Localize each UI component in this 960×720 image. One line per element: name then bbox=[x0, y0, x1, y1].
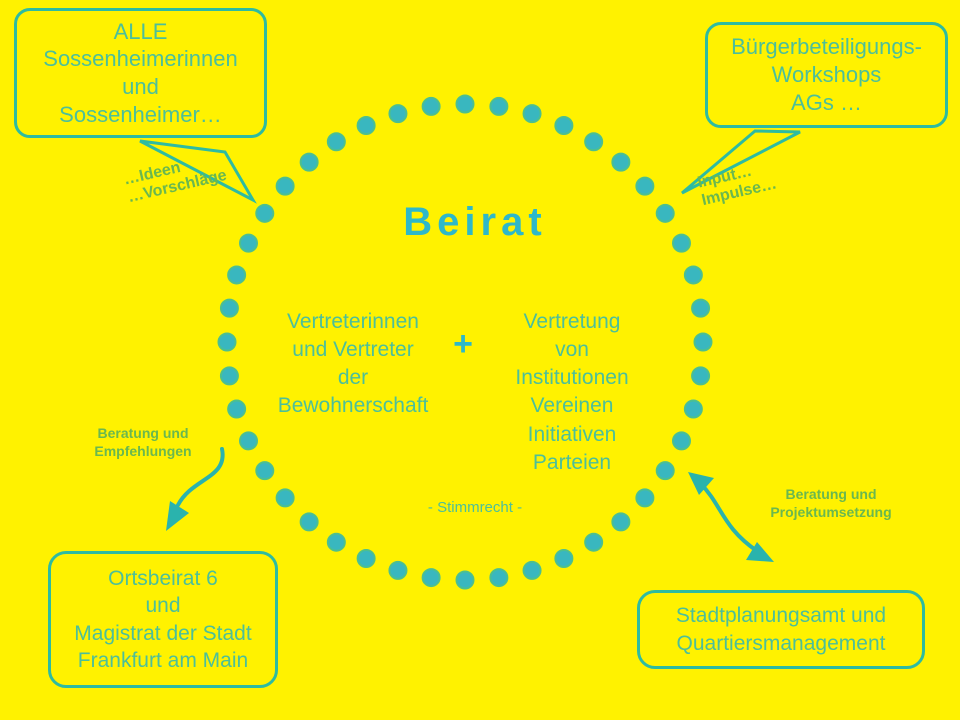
ring-dot bbox=[612, 154, 629, 171]
ring-dot bbox=[490, 569, 507, 586]
arrow-head-to-ring bbox=[688, 472, 714, 495]
ring-dot bbox=[228, 401, 245, 418]
ring-dot bbox=[657, 462, 674, 479]
ring-dot bbox=[221, 300, 238, 317]
ring-dot bbox=[636, 489, 653, 506]
ring-dot bbox=[490, 98, 507, 115]
speech-bubble-citizens-text: ALLE Sossenheimerinnen und Sossenheimer… bbox=[43, 18, 237, 129]
arrow-label-beratung-empfehlungen: Beratung und Empfehlungen bbox=[73, 424, 213, 460]
actor-box-ortsbeirat: Ortsbeirat 6 und Magistrat der Stadt Fra… bbox=[48, 551, 278, 688]
ring-dot bbox=[389, 105, 406, 122]
ring-dot bbox=[328, 534, 345, 551]
arrow-label-beratung-projektumsetzung: Beratung und Projektumsetzung bbox=[747, 485, 915, 521]
ring-dot bbox=[524, 562, 541, 579]
tail-label-ideen: …Ideen …Vorschläge bbox=[122, 149, 229, 208]
speech-bubble-workshops: Bürgerbeteiligungs- Workshops AGs … bbox=[705, 22, 948, 128]
ring-dot bbox=[301, 513, 318, 530]
ring-dot bbox=[692, 300, 709, 317]
tail-label-input: Input… Impulse… bbox=[696, 158, 779, 211]
speech-bubble-citizens: ALLE Sossenheimerinnen und Sossenheimer… bbox=[14, 8, 267, 138]
ring-dot bbox=[692, 367, 709, 384]
ring-dot bbox=[457, 96, 474, 113]
council-institutions-column: Vertretung von Institutionen Vereinen In… bbox=[486, 308, 658, 477]
plus-icon: + bbox=[443, 327, 483, 361]
ring-dot bbox=[277, 178, 294, 195]
ring-dot bbox=[240, 235, 257, 252]
ring-dot bbox=[228, 266, 245, 283]
ring-dot bbox=[219, 334, 236, 351]
ring-dot bbox=[358, 117, 375, 134]
ring-dot bbox=[695, 334, 712, 351]
ring-dot bbox=[673, 235, 690, 252]
ring-dot bbox=[221, 367, 238, 384]
ring-dot bbox=[240, 432, 257, 449]
ring-dot bbox=[301, 154, 318, 171]
ring-dot bbox=[423, 98, 440, 115]
ring-dot bbox=[612, 513, 629, 530]
actor-box-ortsbeirat-text: Ortsbeirat 6 und Magistrat der Stadt Fra… bbox=[74, 565, 251, 674]
council-members-column: Vertreterinnen und Vertreter der Bewohne… bbox=[262, 308, 444, 421]
ring-dot bbox=[685, 266, 702, 283]
ring-dot bbox=[277, 489, 294, 506]
diagram-canvas: ALLE Sossenheimerinnen und Sossenheimer…… bbox=[0, 0, 960, 720]
ring-dot bbox=[389, 562, 406, 579]
ring-dot bbox=[256, 462, 273, 479]
speech-bubble-workshops-text: Bürgerbeteiligungs- Workshops AGs … bbox=[731, 33, 922, 116]
actor-box-stadtplanungsamt: Stadtplanungsamt und Quartiersmanagement bbox=[637, 590, 925, 669]
arrow-to-ortsbeirat-head bbox=[166, 501, 189, 531]
ring-dot bbox=[328, 133, 345, 150]
actor-box-stadtplanungsamt-text: Stadtplanungsamt und Quartiersmanagement bbox=[676, 602, 886, 657]
page-title: Beirat bbox=[330, 200, 620, 245]
ring-dot bbox=[636, 178, 653, 195]
ring-dot bbox=[657, 205, 674, 222]
ring-dot bbox=[585, 133, 602, 150]
ring-dot bbox=[673, 432, 690, 449]
ring-dot bbox=[457, 572, 474, 589]
voting-rights-note: - Stimmrecht - bbox=[355, 499, 595, 516]
ring-dot bbox=[585, 534, 602, 551]
arrow-head-to-box bbox=[746, 542, 774, 562]
ring-dot bbox=[555, 117, 572, 134]
ring-dot bbox=[524, 105, 541, 122]
ring-dot bbox=[423, 569, 440, 586]
ring-dot bbox=[256, 205, 273, 222]
ring-dot bbox=[685, 401, 702, 418]
ring-dot bbox=[555, 550, 572, 567]
ring-dot bbox=[358, 550, 375, 567]
